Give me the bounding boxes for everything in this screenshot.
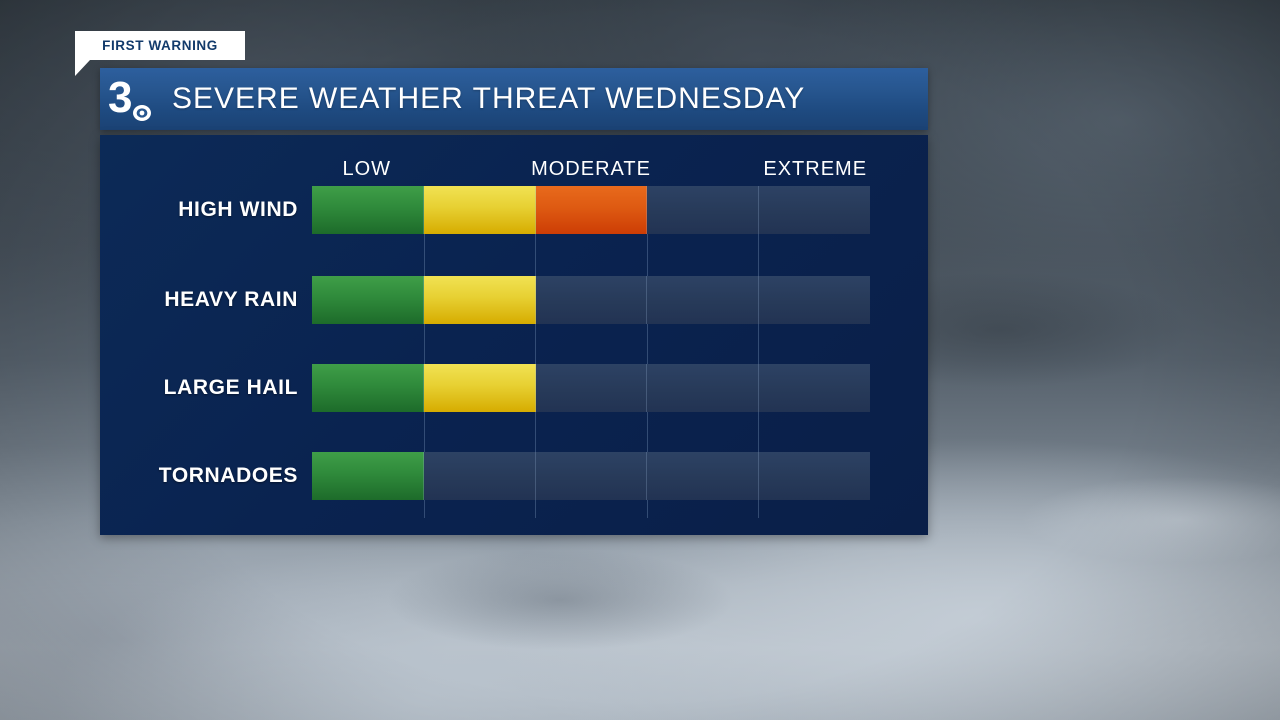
scale-label-blank-2 — [651, 152, 761, 186]
graphic-header-bar: 3 SEVERE WEATHER THREAT WEDNESDAY — [100, 68, 928, 130]
threat-cell — [536, 452, 648, 500]
threat-cell — [647, 186, 759, 234]
threat-row-label-large-hail: LARGE HAIL — [164, 364, 298, 412]
weather-graphic-stage: FIRST WARNING 3 SEVERE WEATHER THREAT WE… — [0, 0, 1280, 720]
threat-cell — [759, 452, 870, 500]
threat-cell — [759, 364, 870, 412]
first-warning-tag: FIRST WARNING — [75, 31, 245, 60]
channel-3-logo: 3 — [100, 68, 162, 130]
threat-scale-header: LOW MODERATE EXTREME — [312, 152, 870, 186]
threat-matrix-panel: LOW MODERATE EXTREME HIGH WIND — [100, 135, 928, 535]
threat-row: HEAVY RAIN — [312, 276, 870, 324]
threat-row-label-high-wind: HIGH WIND — [178, 186, 298, 234]
threat-row-label-heavy-rain: HEAVY RAIN — [164, 276, 298, 324]
threat-cell — [536, 186, 648, 234]
first-warning-tag-tail — [75, 60, 90, 76]
threat-cell — [312, 186, 424, 234]
threat-cell — [312, 364, 424, 412]
threat-cell — [647, 452, 759, 500]
threat-grid: HIGH WIND HEAVY RAIN LARGE HAIL — [312, 186, 870, 518]
threat-cell — [424, 452, 536, 500]
channel-3-logo-svg: 3 — [102, 70, 160, 128]
threat-cell — [647, 364, 759, 412]
threat-cell — [536, 364, 648, 412]
threat-row: TORNADOES — [312, 452, 870, 500]
svg-text:3: 3 — [108, 73, 132, 122]
scale-label-extreme: EXTREME — [760, 152, 870, 186]
threat-cell — [312, 452, 424, 500]
threat-row: LARGE HAIL — [312, 364, 870, 412]
threat-cell — [312, 276, 424, 324]
first-warning-label: FIRST WARNING — [102, 38, 218, 53]
threat-cell — [424, 364, 536, 412]
scale-label-moderate: MODERATE — [531, 152, 651, 186]
threat-row-label-tornadoes: TORNADOES — [159, 452, 298, 500]
graphic-title: SEVERE WEATHER THREAT WEDNESDAY — [172, 82, 805, 116]
threat-cell — [424, 276, 536, 324]
threat-cell — [424, 186, 536, 234]
cbs-eye-icon — [133, 105, 151, 121]
threat-row: HIGH WIND — [312, 186, 870, 234]
threat-cell — [647, 276, 759, 324]
threat-cell — [759, 276, 870, 324]
scale-label-blank-1 — [422, 152, 532, 186]
threat-cell — [536, 276, 648, 324]
scale-label-low: LOW — [312, 152, 422, 186]
threat-cell — [759, 186, 870, 234]
